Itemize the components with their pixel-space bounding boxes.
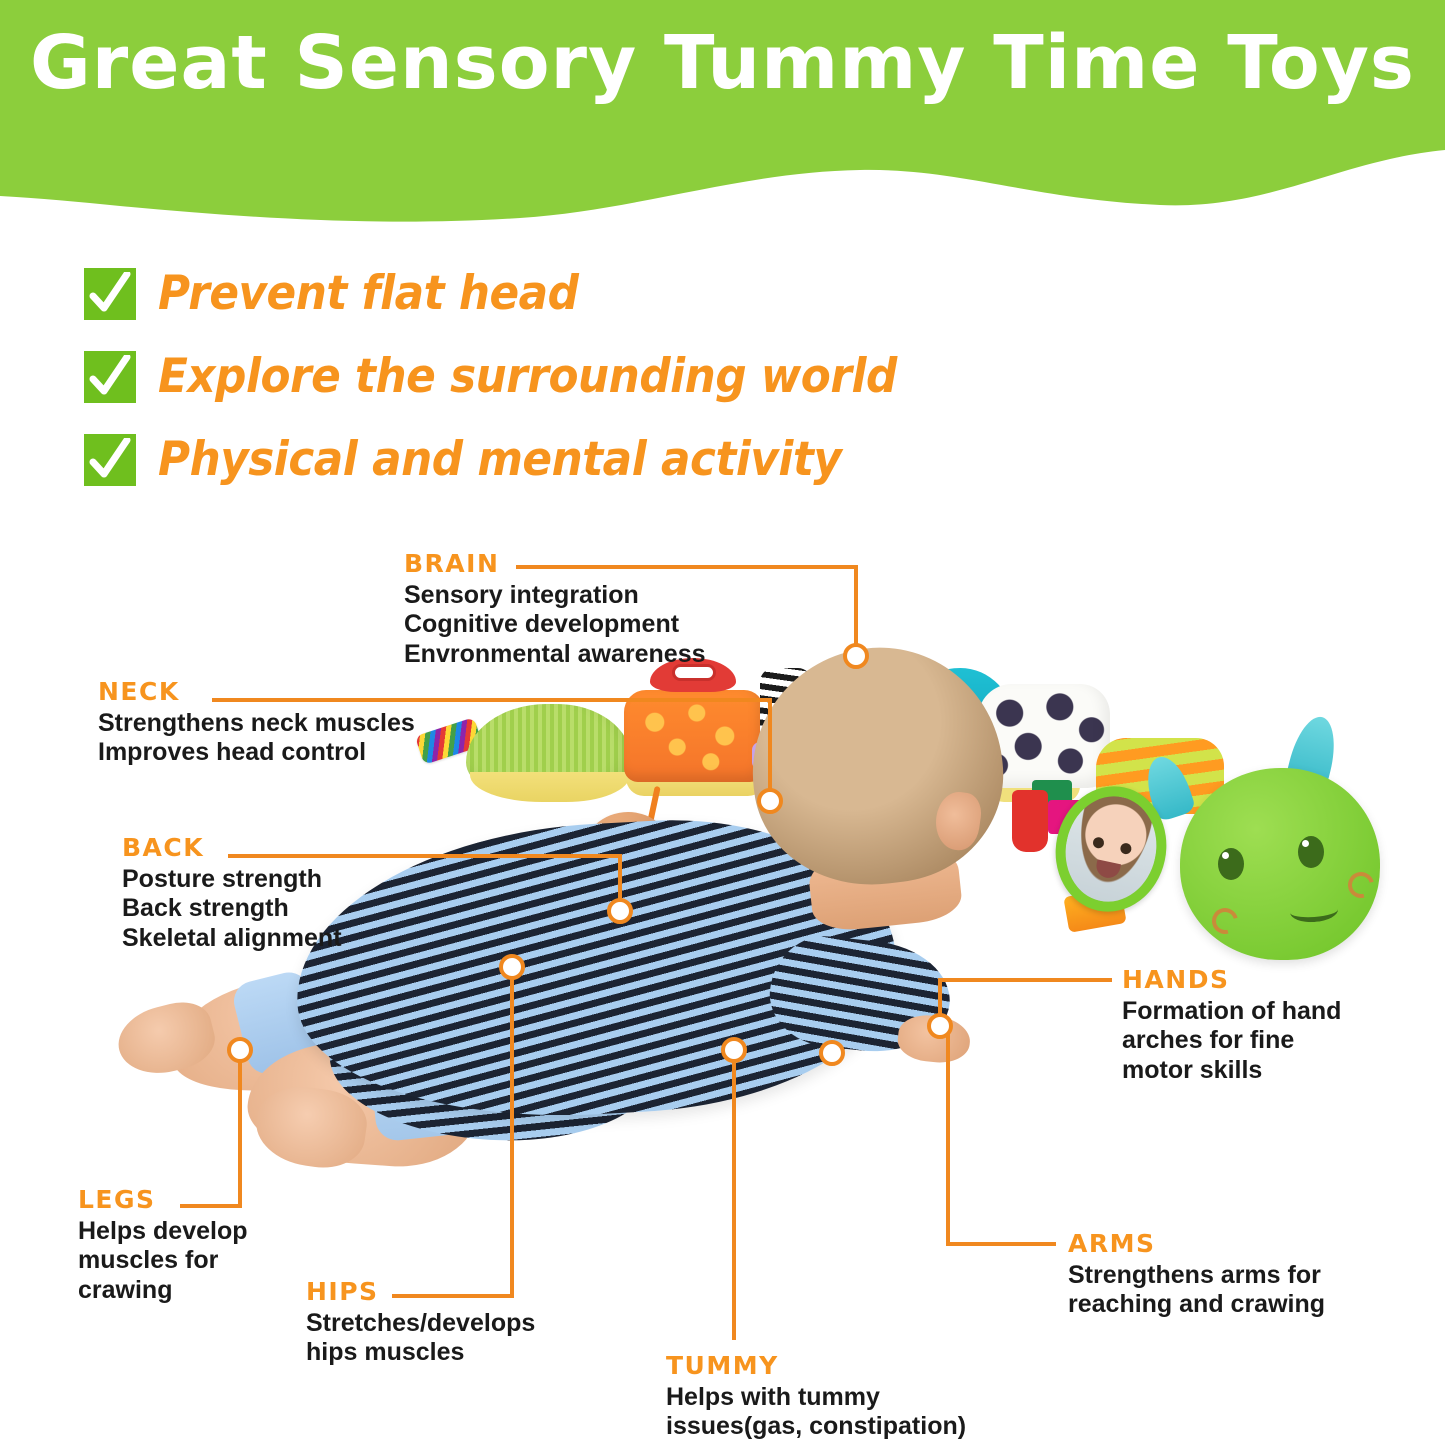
benefit-label: Physical and mental activity bbox=[158, 432, 841, 487]
callout-neck: NECK Strengthens neck muscles Improves h… bbox=[98, 678, 415, 768]
reflection-eye-left bbox=[1092, 836, 1105, 849]
reflection-eye-right bbox=[1119, 842, 1132, 855]
callout-line: Back strength bbox=[122, 894, 342, 924]
callout-line: Sensory integration bbox=[404, 581, 706, 611]
benefit-item-1: Prevent flat head bbox=[84, 252, 1084, 335]
callout-line: crawing bbox=[78, 1276, 248, 1306]
callout-tummy: TUMMY Helps with tummy issues(gas, const… bbox=[666, 1352, 966, 1442]
benefit-item-2: Explore the surrounding world bbox=[84, 335, 1084, 418]
callout-arms: ARMS Strengthens arms for reaching and c… bbox=[1068, 1230, 1325, 1320]
toy-tag-red bbox=[1012, 790, 1048, 852]
callout-line: Skeletal alignment bbox=[122, 924, 342, 954]
baby-hand bbox=[896, 1012, 972, 1065]
header-banner: Great Sensory Tummy Time Toys bbox=[0, 0, 1445, 250]
check-square-icon bbox=[84, 434, 136, 486]
toy-eye-glint-left bbox=[1222, 852, 1229, 859]
toy-segment-green-base bbox=[470, 772, 630, 802]
callout-line: Posture strength bbox=[122, 865, 342, 895]
callout-line: Helps develop bbox=[78, 1217, 248, 1247]
callout-title: BACK bbox=[122, 834, 342, 862]
callout-title: HIPS bbox=[306, 1278, 535, 1306]
callout-hands: HANDS Formation of hand arches for fine … bbox=[1122, 966, 1341, 1085]
callout-title: NECK bbox=[98, 678, 415, 706]
callout-back: BACK Posture strength Back strength Skel… bbox=[122, 834, 342, 953]
callout-hips: HIPS Stretches/develops hips muscles bbox=[306, 1278, 535, 1368]
check-square-icon bbox=[84, 268, 136, 320]
page-title: Great Sensory Tummy Time Toys bbox=[0, 26, 1445, 100]
callout-line: Envronmental awareness bbox=[404, 640, 706, 670]
check-square-icon bbox=[84, 351, 136, 403]
callout-line: muscles for bbox=[78, 1246, 248, 1276]
benefit-label: Explore the surrounding world bbox=[158, 349, 897, 404]
callout-line: issues(gas, constipation) bbox=[666, 1412, 966, 1442]
benefits-list: Prevent flat head Explore the surroundin… bbox=[84, 252, 1084, 501]
callout-line: Helps with tummy bbox=[666, 1383, 966, 1413]
callout-legs: LEGS Helps develop muscles for crawing bbox=[78, 1186, 248, 1305]
callout-line: Formation of hand bbox=[1122, 997, 1341, 1027]
callout-brain: BRAIN Sensory integration Cognitive deve… bbox=[404, 550, 706, 669]
benefit-item-3: Physical and mental activity bbox=[84, 418, 1084, 501]
callout-line: hips muscles bbox=[306, 1338, 535, 1368]
reflection-mouth bbox=[1094, 859, 1121, 880]
benefit-label: Prevent flat head bbox=[158, 266, 579, 321]
callout-line: Stretches/develops bbox=[306, 1309, 535, 1339]
callout-title: BRAIN bbox=[404, 550, 706, 578]
callout-line: Strengthens neck muscles bbox=[98, 709, 415, 739]
callout-line: reaching and crawing bbox=[1068, 1290, 1325, 1320]
callout-line: Strengthens arms for bbox=[1068, 1261, 1325, 1291]
toy-caterpillar-head bbox=[1180, 768, 1380, 960]
callout-line: Cognitive development bbox=[404, 610, 706, 640]
toy-eye-glint-right bbox=[1302, 840, 1309, 847]
callout-line: motor skills bbox=[1122, 1056, 1341, 1086]
toy-segment-orange bbox=[624, 690, 764, 782]
callout-line: Improves head control bbox=[98, 738, 415, 768]
callout-title: ARMS bbox=[1068, 1230, 1325, 1258]
callout-title: TUMMY bbox=[666, 1352, 966, 1380]
callout-line: arches for fine bbox=[1122, 1026, 1341, 1056]
callout-title: LEGS bbox=[78, 1186, 248, 1214]
callout-title: HANDS bbox=[1122, 966, 1341, 994]
